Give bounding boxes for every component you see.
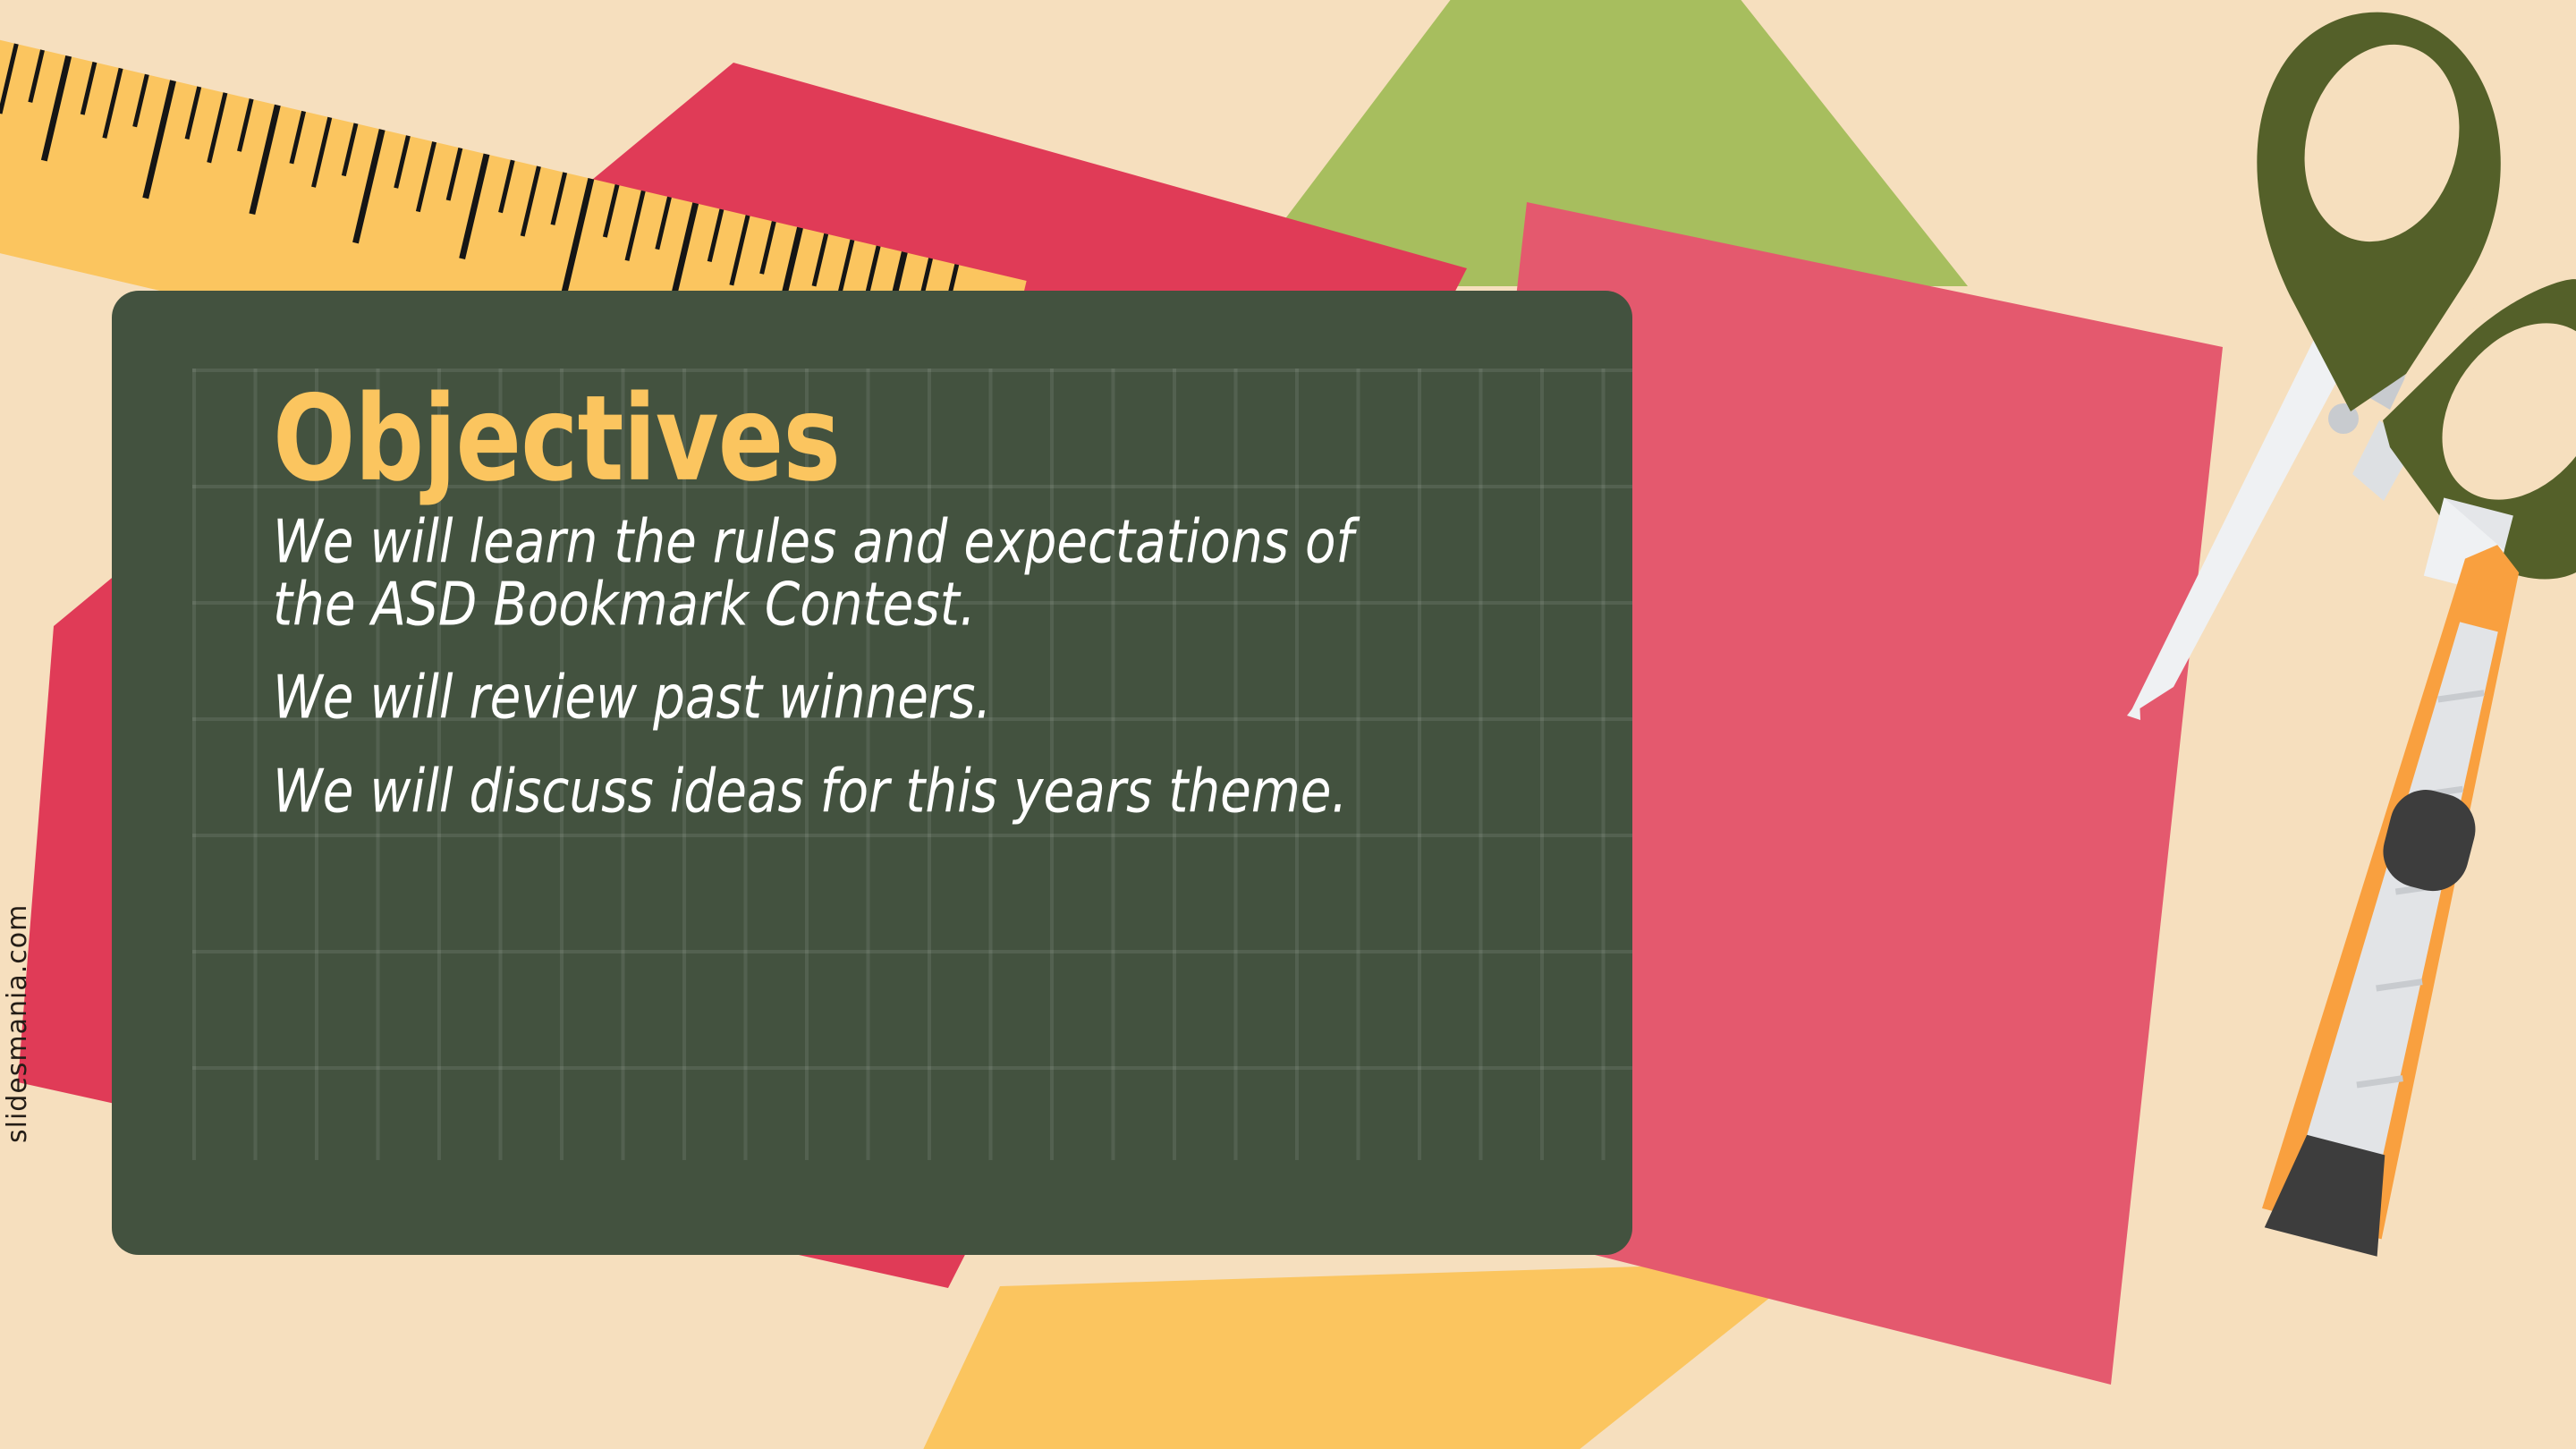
objective-item-3: We will discuss ideas for this years the… [273, 757, 1543, 819]
objective-line-1b: the ASD Bookmark Contest. [273, 570, 1467, 640]
chalkboard-content: Objectives We will learn the rules and e… [273, 380, 1543, 819]
objective-item-1: We will learn the rules and expectations… [273, 507, 1543, 632]
objective-item-2: We will review past winners. [273, 663, 1543, 725]
chalkboard-panel: Objectives We will learn the rules and e… [112, 291, 1632, 1255]
objective-line-1a: We will learn the rules and expectations… [273, 507, 1467, 578]
slide-canvas: Objectives We will learn the rules and e… [0, 0, 2576, 1449]
page-title: Objectives [273, 380, 1504, 498]
objective-line-2: We will review past winners. [273, 663, 1467, 733]
objective-line-3: We will discuss ideas for this years the… [273, 757, 1467, 827]
slidesmania-watermark: slidesmania.com [2, 904, 33, 1143]
